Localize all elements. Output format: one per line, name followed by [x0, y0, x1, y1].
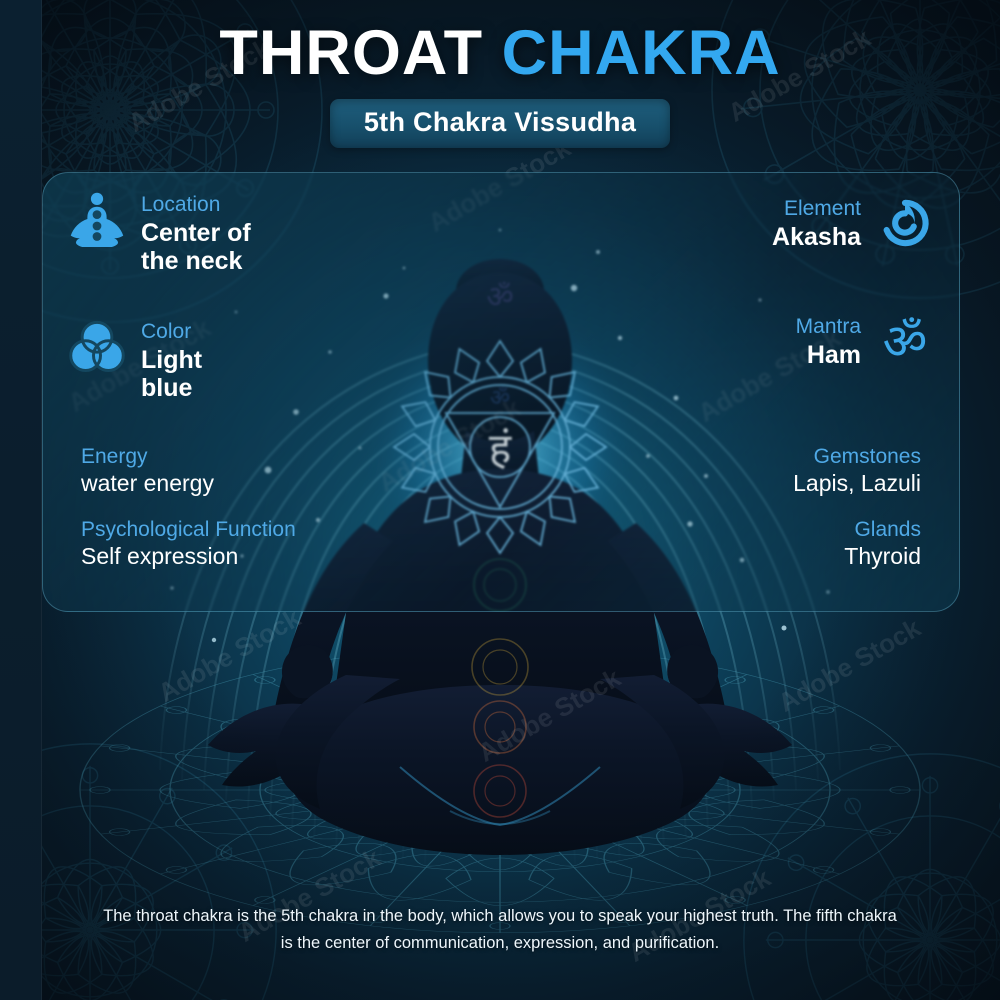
- attribute-glands: Glands Thyroid: [844, 518, 921, 570]
- attribute-color-label: Color: [141, 320, 202, 344]
- watermark-tile: Adobe Stock: [473, 662, 626, 768]
- attribute-mantra-label: Mantra: [796, 315, 861, 339]
- three-circles-venn-icon: [69, 318, 125, 374]
- header: THROAT CHAKRA 5th Chakra Vissudha: [0, 0, 1000, 160]
- attribute-element-value: Akasha: [772, 223, 861, 251]
- attribute-psychological-function-value: Self expression: [81, 544, 296, 570]
- attribute-energy-label: Energy: [81, 445, 214, 469]
- attribute-location-text: Location Center of the neck: [141, 191, 251, 275]
- watermark-tile: Adobe Stock: [773, 612, 926, 718]
- attribute-mantra: ॐ Mantra Ham: [796, 313, 933, 369]
- attribute-color: Color Light blue: [69, 318, 202, 402]
- attribute-energy-value: water energy: [81, 471, 214, 497]
- title-word-chakra: CHAKRA: [502, 18, 781, 88]
- meditating-figure-icon: [69, 191, 125, 247]
- attribute-location-label: Location: [141, 193, 251, 217]
- attribute-glands-value: Thyroid: [844, 544, 921, 570]
- attribute-gemstones-value: Lapis, Lazuli: [793, 471, 921, 497]
- title-word-throat: THROAT: [219, 18, 483, 88]
- infographic-canvas: ॐ ॐ: [0, 0, 1000, 1000]
- attribute-color-value-line2: blue: [141, 374, 202, 402]
- footer-caption: The throat chakra is the 5th chakra in t…: [50, 903, 950, 956]
- watermark-tile: Adobe Stock: [153, 602, 306, 708]
- attribute-element: Element Akasha: [772, 195, 933, 251]
- attribute-psychological-function: Psychological Function Self expression: [81, 518, 296, 570]
- attribute-location-value-line1: Center of: [141, 219, 251, 247]
- page-title: THROAT CHAKRA: [0, 0, 1000, 85]
- attribute-gemstones: Gemstones Lapis, Lazuli: [793, 445, 921, 497]
- spiral-vortex-icon: [877, 195, 933, 251]
- attributes-panel: Location Center of the neck: [42, 172, 960, 612]
- attribute-element-text: Element Akasha: [772, 195, 861, 251]
- attribute-gemstones-label: Gemstones: [793, 445, 921, 469]
- attribute-color-text: Color Light blue: [141, 318, 202, 402]
- attribute-location-value-line2: the neck: [141, 247, 251, 275]
- om-symbol-icon: ॐ: [877, 313, 933, 369]
- attribute-psychological-function-label: Psychological Function: [81, 518, 296, 542]
- attribute-mantra-value: Ham: [796, 341, 861, 369]
- footer-caption-line1: The throat chakra is the 5th chakra in t…: [50, 903, 950, 929]
- stock-watermark-strip: Adobe Stock | #539960577: [0, 0, 42, 1000]
- corner-mandala-bottom-left: [0, 720, 310, 1000]
- attribute-energy: Energy water energy: [81, 445, 214, 497]
- subtitle-badge: 5th Chakra Vissudha: [330, 99, 670, 148]
- floor-mandala: [60, 640, 940, 940]
- attribute-location: Location Center of the neck: [69, 191, 251, 275]
- svg-text:ॐ: ॐ: [883, 314, 928, 370]
- attribute-glands-label: Glands: [844, 518, 921, 542]
- attribute-mantra-text: Mantra Ham: [796, 313, 861, 369]
- corner-mandala-bottom-right: [710, 730, 1000, 1000]
- attribute-color-value-line1: Light: [141, 346, 202, 374]
- attribute-element-label: Element: [772, 197, 861, 221]
- footer-caption-line2: is the center of communication, expressi…: [50, 930, 950, 956]
